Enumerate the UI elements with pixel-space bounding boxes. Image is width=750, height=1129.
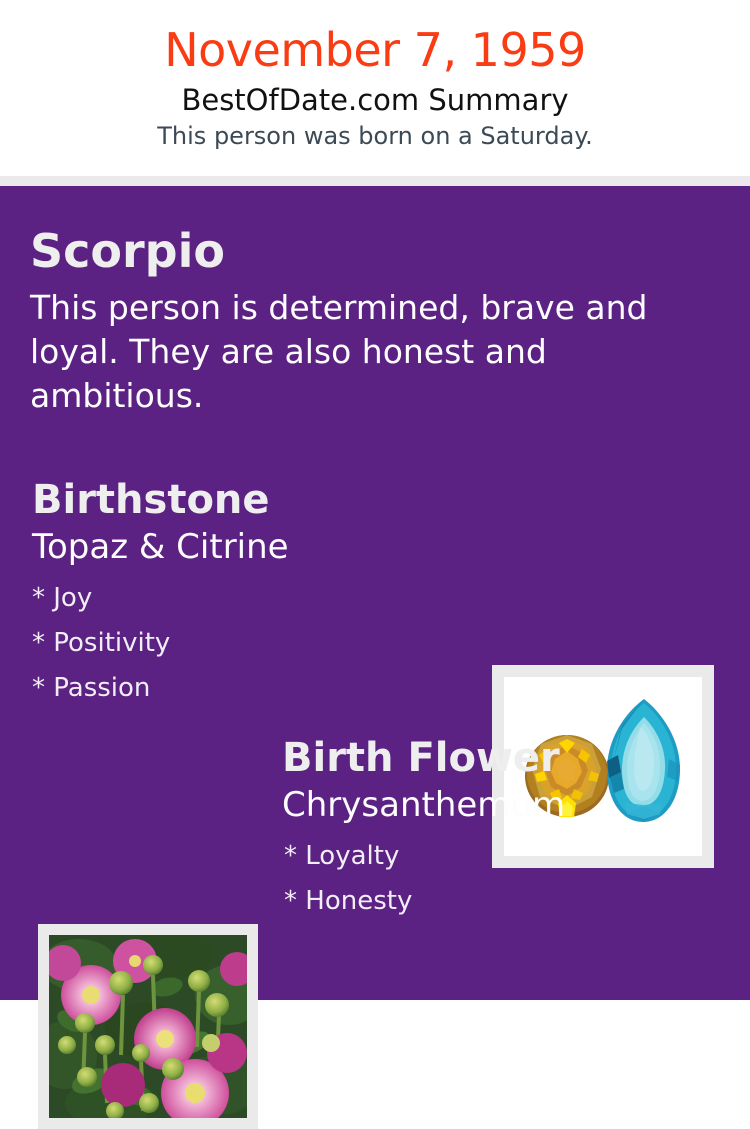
page-header: November 7, 1959 BestOfDate.com Summary … xyxy=(0,0,750,176)
list-item: * Passion xyxy=(32,666,462,711)
birth-flower-value: Chrysanthemum xyxy=(282,784,722,826)
header-divider xyxy=(0,176,750,186)
site-summary-label: BestOfDate.com Summary xyxy=(0,81,750,119)
list-item: * Honesty xyxy=(282,879,722,924)
list-item: * Positivity xyxy=(32,621,462,666)
zodiac-section: Scorpio This person is determined, brave… xyxy=(30,224,710,418)
birth-flower-photo-frame xyxy=(38,924,258,1129)
list-item: * Loyalty xyxy=(282,834,722,879)
birth-flower-section: Birth Flower Chrysanthemum * Loyalty * H… xyxy=(282,734,722,924)
born-day-label: This person was born on a Saturday. xyxy=(0,120,750,152)
page-title: November 7, 1959 xyxy=(0,22,750,78)
birthstone-trait-list: * Joy * Positivity * Passion xyxy=(32,576,462,711)
birthstone-heading: Birthstone xyxy=(32,476,462,524)
birth-flower-heading: Birth Flower xyxy=(282,734,722,782)
birth-flower-trait-list: * Loyalty * Honesty xyxy=(282,834,722,924)
birthstone-section: Birthstone Topaz & Citrine * Joy * Posit… xyxy=(32,476,462,711)
zodiac-name: Scorpio xyxy=(30,224,710,278)
summary-panel: Scorpio This person is determined, brave… xyxy=(0,186,750,1000)
birthstone-value: Topaz & Citrine xyxy=(32,526,462,568)
zodiac-description: This person is determined, brave and loy… xyxy=(30,286,695,418)
list-item: * Joy xyxy=(32,576,462,621)
birth-flower-photo xyxy=(49,935,247,1118)
